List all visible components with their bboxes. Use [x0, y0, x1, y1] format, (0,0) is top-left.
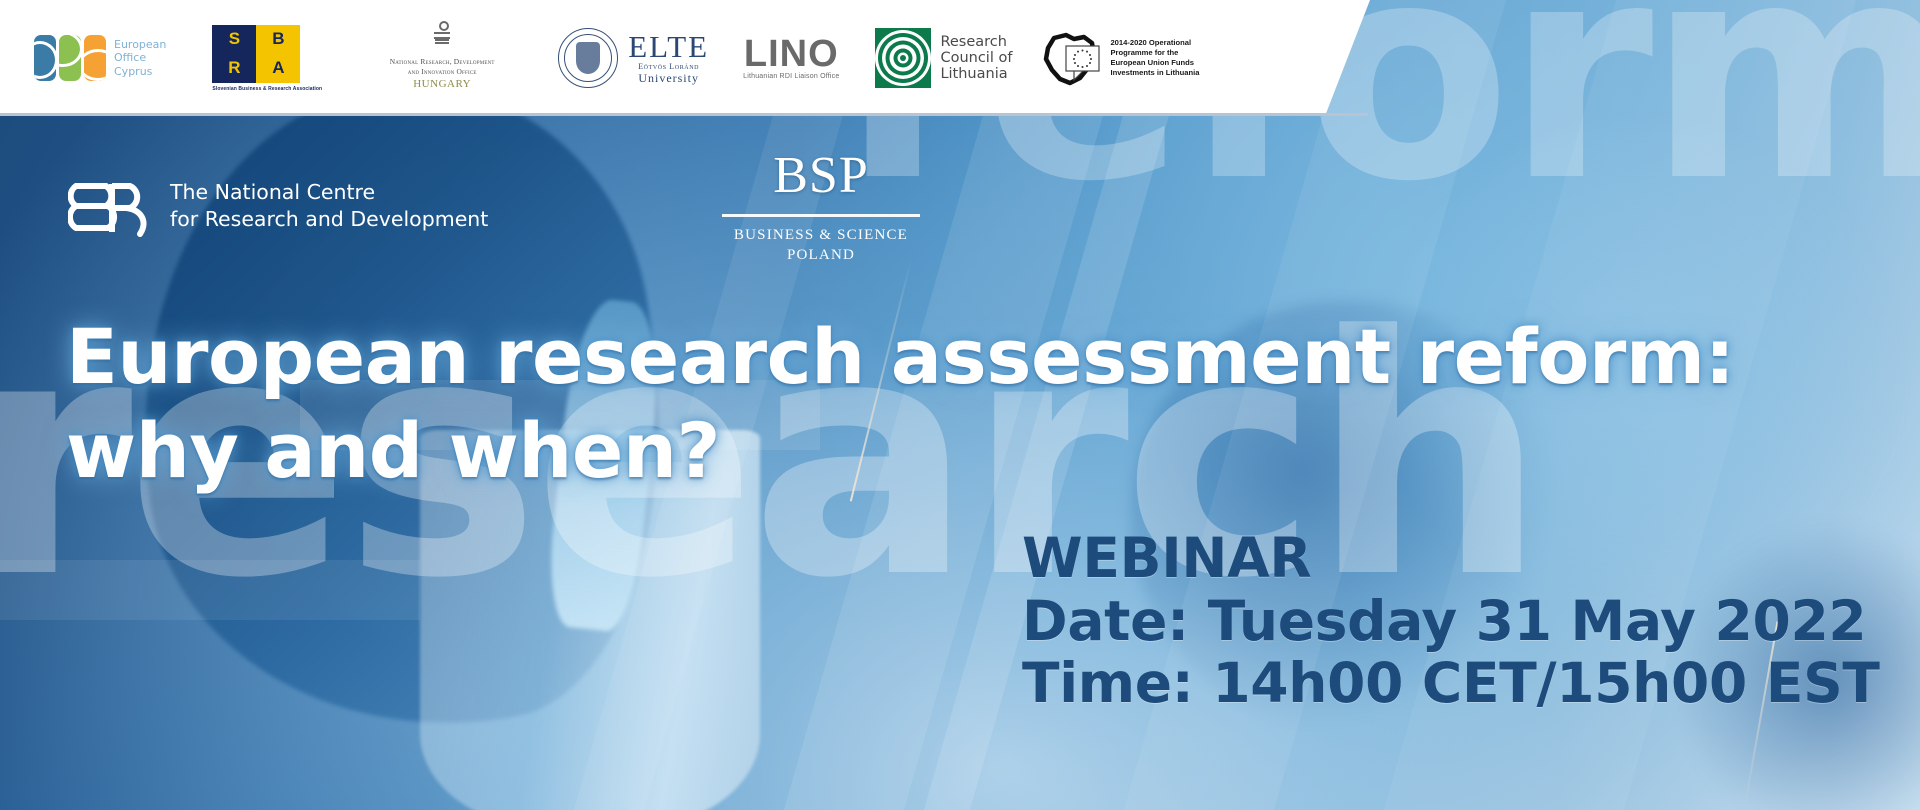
bsp-line1: BUSINESS & SCIENCE [716, 227, 926, 244]
elte-line2: University [628, 71, 709, 86]
logo-ncbr: The National Centre for Research and Dev… [68, 170, 488, 242]
webinar-date: Date: Tuesday 31 May 2022 [1022, 590, 1880, 653]
op-line3: European Union Funds [1110, 58, 1230, 68]
webinar-label: WEBINAR [1022, 527, 1880, 590]
logo-european-office-cyprus: European Office Cyprus [34, 0, 166, 116]
webinar-time: Time: 14h00 CET/15h00 EST [1022, 652, 1880, 715]
op-line2: Programme for the [1110, 48, 1230, 58]
logo-nrdi-hungary: National Research, Development and Innov… [362, 0, 522, 116]
sbra-icon: S B R A [212, 25, 300, 83]
eoc-line1: European [114, 38, 166, 51]
rcl-line3: Lithuania [940, 66, 1012, 82]
eoc-line2: Office [114, 51, 166, 64]
logo-sbra: S B R A Slovenian Business & Research As… [212, 0, 322, 116]
logo-research-council-lithuania: Research Council of Lithuania [875, 0, 1012, 116]
nrdi-country: HUNGARY [390, 78, 495, 90]
lino-acronym: LINO [743, 36, 839, 72]
sbra-letter-s: S [212, 25, 256, 54]
sbra-letter-r: R [212, 54, 256, 83]
lithuania-map-eu-icon [1040, 26, 1102, 90]
nrdi-line1: National Research, Development [390, 57, 495, 67]
lino-subtitle: Lithuanian RDI Liaison Office [743, 73, 839, 80]
webinar-details: WEBINAR Date: Tuesday 31 May 2022 Time: … [1022, 527, 1880, 715]
title-line-1: European research assessment reform: [66, 312, 1734, 401]
sbra-letter-b: B [256, 25, 300, 54]
logo-lino: LINO Lithuanian RDI Liaison Office [743, 0, 839, 116]
bsp-monogram: BSP [716, 150, 926, 202]
sbra-letter-a: A [256, 54, 300, 83]
logo-eu-funds-lithuania: 2014-2020 Operational Programme for the … [1040, 0, 1230, 116]
partner-logo-list: European Office Cyprus S B R A Slovenian… [0, 0, 1230, 116]
european-office-cyprus-icon [34, 35, 106, 81]
elte-line1: Eötvös Loránd [628, 62, 709, 71]
rcl-line1: Research [940, 34, 1012, 50]
sbra-subtitle: Slovenian Business & Research Associatio… [212, 86, 322, 92]
eoc-line3: Cyprus [114, 65, 166, 78]
op-line1: 2014-2020 Operational [1110, 38, 1230, 48]
page-title: European research assessment reform: why… [66, 310, 1866, 498]
elte-seal-icon [558, 28, 618, 88]
ncbr-monogram-icon [68, 170, 152, 242]
bsp-line2: POLAND [716, 247, 926, 264]
european-office-cyprus-label: European Office Cyprus [114, 38, 166, 78]
ncbr-line1: The National Centre [170, 179, 488, 206]
nrdi-line2: and Innovation Office [390, 67, 495, 77]
rcl-line2: Council of [940, 50, 1012, 66]
hungary-crest-icon [432, 26, 452, 54]
elte-acronym: ELTE [628, 31, 709, 62]
research-council-lithuania-icon [875, 28, 931, 88]
webinar-banner: reform research European Office Cyprus [0, 0, 1920, 810]
logo-elte: ELTE Eötvös Loránd University [558, 0, 709, 116]
logo-bsp: BSP BUSINESS & SCIENCE POLAND [716, 150, 926, 264]
op-line4: Investments in Lithuania [1110, 68, 1230, 78]
ncbr-line2: for Research and Development [170, 206, 488, 233]
title-line-2: why and when? [66, 404, 1866, 498]
bsp-divider [722, 214, 920, 217]
